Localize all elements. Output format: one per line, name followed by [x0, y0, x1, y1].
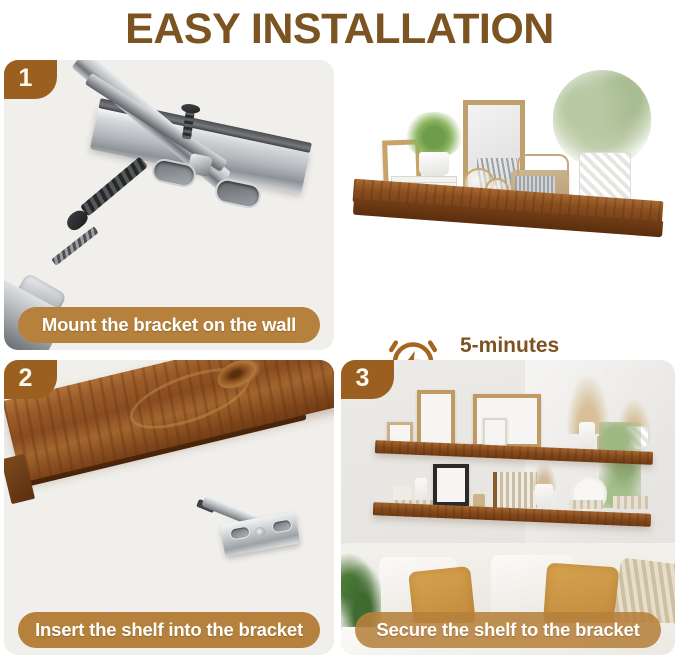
step-3-caption: Secure the shelf to the bracket [355, 612, 661, 648]
leaning-art-print [483, 418, 507, 448]
step-1-number-badge: 1 [4, 60, 57, 99]
hero-shelf-illustration [341, 60, 679, 260]
feature-line-1: 5-minutes [460, 334, 559, 357]
small-vase [415, 478, 427, 502]
book-stack [569, 500, 603, 509]
hero-shelf-panel [341, 60, 679, 260]
book-stack [613, 496, 649, 509]
step-2-illustration [4, 360, 334, 655]
round-vase [535, 484, 553, 508]
plant-pot [419, 152, 449, 176]
step-3-card: 3 Secure the shelf to the bracket [341, 360, 675, 655]
screw-shank [80, 156, 148, 216]
step-2-panel: 2 Insert the shelf into the bracket [4, 360, 334, 655]
flower-vase [579, 422, 595, 450]
radio-handle [517, 154, 569, 176]
page-title: EASY INSTALLATION [0, 0, 679, 56]
step-2-caption: Insert the shelf into the bracket [18, 612, 320, 648]
drill-bit [51, 226, 98, 266]
portrait-picture-frame [417, 390, 455, 448]
step-1-card: 1 Mount the bracket on the wall [4, 60, 334, 350]
installation-steps-grid: 1 Mount the bracket on the wall [0, 60, 679, 657]
hero-shelf-card [341, 60, 679, 260]
step-2-card: 2 Insert the shelf into the bracket [4, 360, 334, 655]
step-2-number-badge: 2 [4, 360, 57, 399]
step-3-panel: 3 Secure the shelf to the bracket [341, 360, 675, 655]
step-3-number-badge: 3 [341, 360, 394, 399]
bracket-center-screw [255, 527, 266, 538]
step-3-room-photo [341, 360, 675, 655]
framed-botanical-print [433, 464, 469, 506]
step-1-panel: 1 Mount the bracket on the wall [4, 60, 334, 350]
step-1-caption: Mount the bracket on the wall [18, 307, 320, 343]
